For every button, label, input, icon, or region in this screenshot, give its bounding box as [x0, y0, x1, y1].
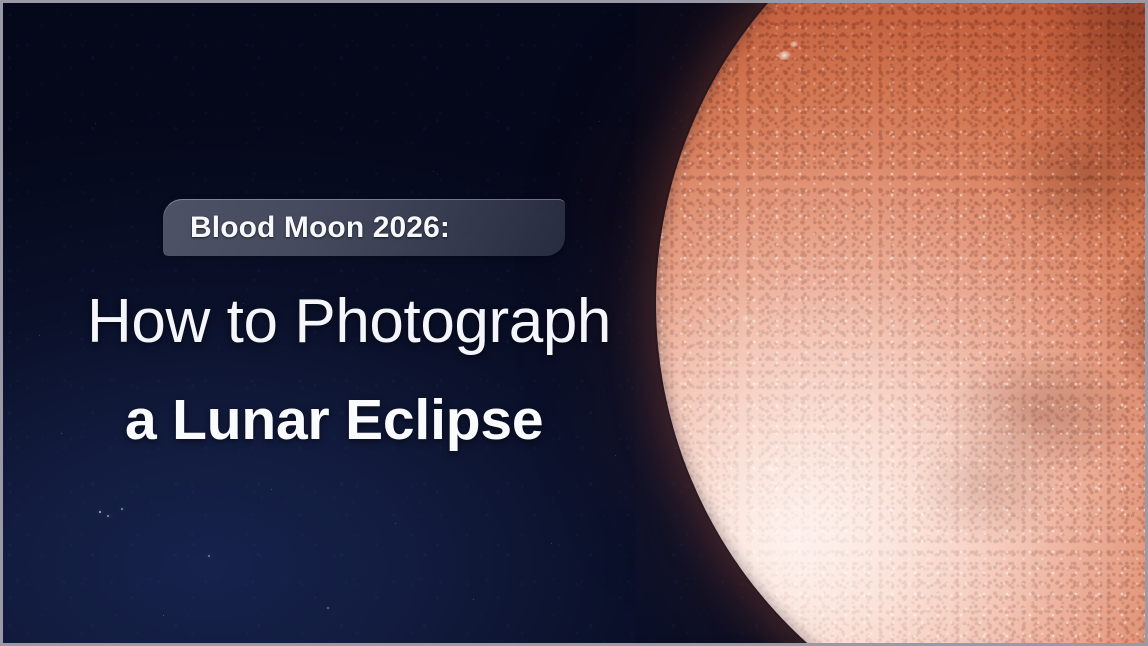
- poster-canvas: Blood Moon 2026: How to Photograph a Lun…: [0, 0, 1148, 646]
- eyebrow-badge: Blood Moon 2026:: [163, 199, 565, 256]
- eyebrow-badge-label: Blood Moon 2026:: [190, 211, 450, 245]
- headline-line-2: a Lunar Eclipse: [125, 387, 543, 453]
- headline-line-1: How to Photograph: [87, 286, 611, 357]
